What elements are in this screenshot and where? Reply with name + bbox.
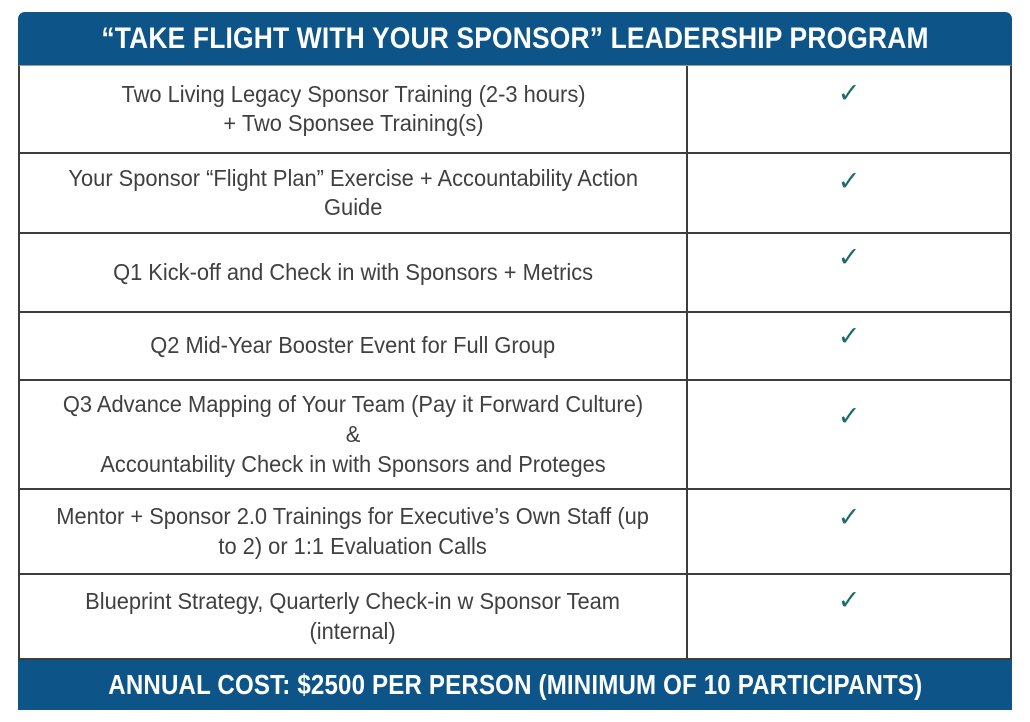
feature-description-cell: Two Living Legacy Sponsor Training (2-3 … <box>20 66 688 152</box>
feature-included-cell: ✓ <box>688 381 1010 488</box>
table-row: Q2 Mid-Year Booster Event for Full Group… <box>20 313 1010 381</box>
feature-description-text: Two Living Legacy Sponsor Training (2-3 … <box>121 80 585 140</box>
check-icon: ✓ <box>838 323 861 350</box>
feature-included-cell: ✓ <box>688 154 1010 232</box>
check-icon: ✓ <box>838 504 861 531</box>
table-row: Q1 Kick-off and Check in with Sponsors +… <box>20 234 1010 313</box>
feature-description-text: Q3 Advance Mapping of Your Team (Pay it … <box>54 390 651 480</box>
feature-description-cell: Your Sponsor “Flight Plan” Exercise + Ac… <box>20 154 688 232</box>
feature-included-cell: ✓ <box>688 313 1010 379</box>
table-row: Blueprint Strategy, Quarterly Check-in w… <box>20 575 1010 658</box>
feature-description-text: Blueprint Strategy, Quarterly Check-in w… <box>86 587 621 647</box>
annual-cost-text: ANNUAL COST: $2500 PER PERSON (MINIMUM O… <box>108 669 922 701</box>
program-title-banner: “TAKE FLIGHT WITH YOUR SPONSOR” LEADERSH… <box>18 12 1012 65</box>
check-icon: ✓ <box>838 587 861 614</box>
table-row: Mentor + Sponsor 2.0 Trainings for Execu… <box>20 490 1010 575</box>
feature-included-cell: ✓ <box>688 490 1010 573</box>
table-row: Your Sponsor “Flight Plan” Exercise + Ac… <box>20 154 1010 234</box>
check-icon: ✓ <box>838 244 861 271</box>
program-title-text: “TAKE FLIGHT WITH YOUR SPONSOR” LEADERSH… <box>101 22 928 56</box>
feature-included-cell: ✓ <box>688 66 1010 152</box>
feature-description-cell: Mentor + Sponsor 2.0 Trainings for Execu… <box>20 490 688 573</box>
feature-description-cell: Q1 Kick-off and Check in with Sponsors +… <box>20 234 688 311</box>
feature-included-cell: ✓ <box>688 575 1010 658</box>
table-row: Q3 Advance Mapping of Your Team (Pay it … <box>20 381 1010 490</box>
check-icon: ✓ <box>838 168 861 195</box>
check-icon: ✓ <box>838 403 861 430</box>
feature-description-text: Q1 Kick-off and Check in with Sponsors +… <box>113 258 593 288</box>
feature-included-cell: ✓ <box>688 234 1010 311</box>
table-row: Two Living Legacy Sponsor Training (2-3 … <box>20 66 1010 154</box>
leadership-program-table: “TAKE FLIGHT WITH YOUR SPONSOR” LEADERSH… <box>18 12 1012 710</box>
check-icon: ✓ <box>838 80 861 107</box>
program-features-list: Two Living Legacy Sponsor Training (2-3 … <box>18 65 1012 660</box>
feature-description-text: Q2 Mid-Year Booster Event for Full Group <box>151 331 556 361</box>
feature-description-cell: Q2 Mid-Year Booster Event for Full Group <box>20 313 688 379</box>
feature-description-text: Your Sponsor “Flight Plan” Exercise + Ac… <box>68 164 638 224</box>
annual-cost-banner: ANNUAL COST: $2500 PER PERSON (MINIMUM O… <box>18 660 1012 710</box>
feature-description-cell: Q3 Advance Mapping of Your Team (Pay it … <box>20 381 688 488</box>
feature-description-text: Mentor + Sponsor 2.0 Trainings for Execu… <box>57 502 650 562</box>
feature-description-cell: Blueprint Strategy, Quarterly Check-in w… <box>20 575 688 658</box>
